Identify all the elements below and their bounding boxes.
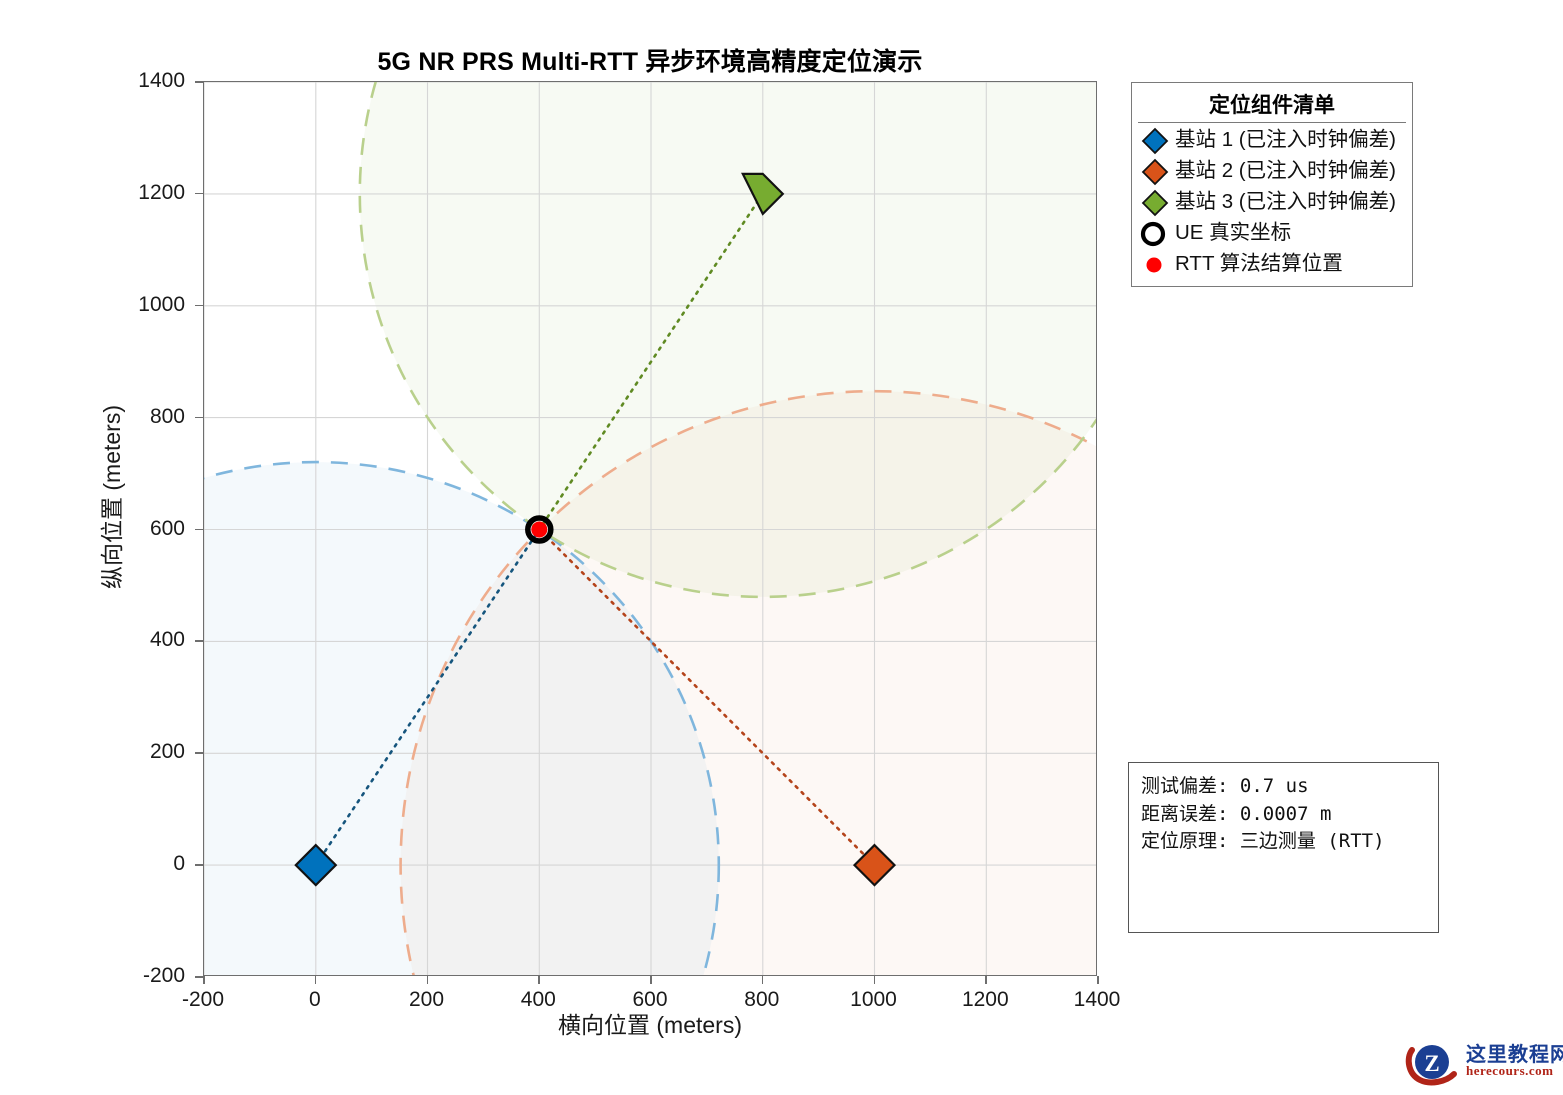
watermark: Z 这里教程网 herecours.com	[1404, 1036, 1554, 1090]
xtick-mark	[427, 976, 429, 984]
diamond-orange-icon	[1138, 157, 1172, 187]
circle-filled-red-icon	[1138, 250, 1172, 280]
xtick-mark	[874, 976, 876, 984]
xtick-mark	[650, 976, 652, 984]
ytick-label: 0	[85, 852, 185, 876]
ytick-label: 1000	[85, 293, 185, 317]
ytick-mark	[195, 81, 203, 83]
legend-item-label: UE 真实坐标	[1175, 223, 1291, 244]
xtick-mark	[538, 976, 540, 984]
legend-item-base-station-2[interactable]: 基站 2 (已注入时钟偏差)	[1138, 156, 1406, 187]
xtick-mark	[762, 976, 764, 984]
ytick-mark	[195, 193, 203, 195]
ytick-mark	[195, 752, 203, 754]
ytick-mark	[195, 864, 203, 866]
xtick-mark	[315, 976, 317, 984]
y-axis-label: 纵向位置 (meters)	[93, 347, 127, 647]
info-line-test-offset: 测试偏差: 0.7 us	[1141, 773, 1426, 801]
legend-item-label: 基站 2 (已注入时钟偏差)	[1175, 161, 1396, 182]
diamond-green-icon	[1138, 188, 1172, 218]
info-line-positioning-principle: 定位原理: 三边测量 (RTT)	[1141, 828, 1426, 856]
marker-rtt-estimate	[531, 522, 547, 538]
ytick-label: -200	[85, 964, 185, 988]
ytick-label: 1200	[85, 181, 185, 205]
legend-title: 定位组件清单	[1138, 87, 1406, 123]
info-box: 测试偏差: 0.7 us 距离误差: 0.0007 m 定位原理: 三边测量 (…	[1128, 762, 1439, 933]
ytick-label: 200	[85, 740, 185, 764]
svg-text:Z: Z	[1424, 1051, 1439, 1076]
ytick-mark	[195, 305, 203, 307]
legend-item-ue-true[interactable]: UE 真实坐标	[1138, 218, 1406, 249]
legend-item-label: RTT 算法结算位置	[1175, 254, 1343, 275]
legend-item-label: 基站 1 (已注入时钟偏差)	[1175, 130, 1396, 151]
circle-open-black-icon	[1138, 219, 1172, 249]
plot-svg	[204, 82, 1097, 976]
legend-item-base-station-1[interactable]: 基站 1 (已注入时钟偏差)	[1138, 125, 1406, 156]
legend-item-rtt-estimate[interactable]: RTT 算法结算位置	[1138, 249, 1406, 280]
watermark-sub-text: herecours.com	[1466, 1063, 1553, 1079]
figure-canvas: 5G NR PRS Multi-RTT 异步环境高精度定位演示	[0, 0, 1563, 1094]
xtick-mark	[1097, 976, 1099, 984]
page-title: 5G NR PRS Multi-RTT 异步环境高精度定位演示	[203, 42, 1097, 78]
legend-item-base-station-3[interactable]: 基站 3 (已注入时钟偏差)	[1138, 187, 1406, 218]
ytick-mark	[195, 976, 203, 978]
x-axis-label: 横向位置 (meters)	[203, 1006, 1097, 1040]
legend-box: 定位组件清单 基站 1 (已注入时钟偏差) 基站 2 (已注入时钟偏差) 基站 …	[1131, 82, 1413, 287]
legend-item-label: 基站 3 (已注入时钟偏差)	[1175, 192, 1396, 213]
ytick-mark	[195, 640, 203, 642]
ytick-label: 1400	[85, 69, 185, 93]
ytick-mark	[195, 417, 203, 419]
xtick-mark	[203, 976, 205, 984]
xtick-mark	[985, 976, 987, 984]
watermark-logo-icon: Z	[1404, 1036, 1464, 1090]
info-line-range-error: 距离误差: 0.0007 m	[1141, 801, 1426, 829]
diamond-blue-icon	[1138, 126, 1172, 156]
ytick-mark	[195, 529, 203, 531]
plot-area[interactable]	[203, 81, 1097, 976]
